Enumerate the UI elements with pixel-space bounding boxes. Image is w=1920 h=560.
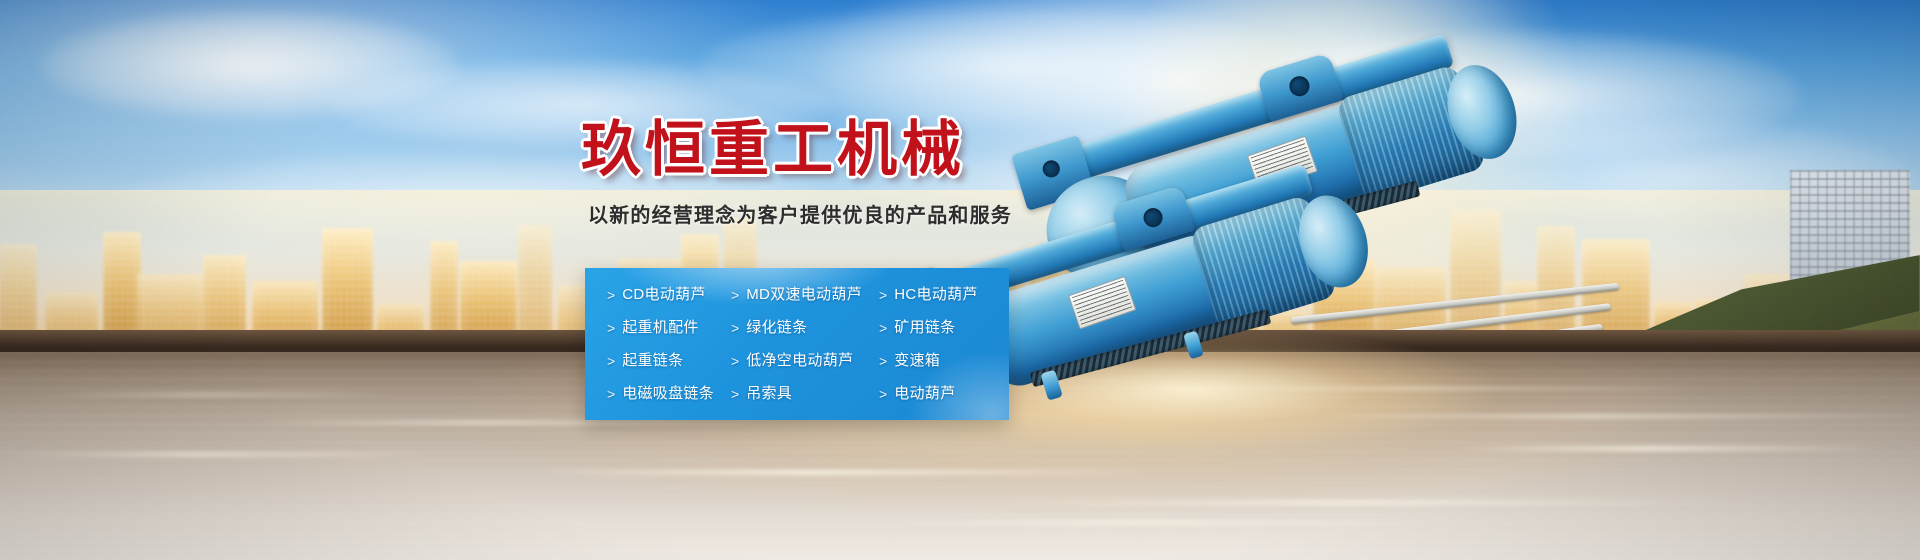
chevron-right-icon: > <box>731 321 739 335</box>
chevron-right-icon: > <box>607 387 615 401</box>
product-link[interactable]: >起重机配件 <box>607 320 731 335</box>
product-link-label: 矿用链条 <box>894 320 955 335</box>
speed-line <box>1320 414 1920 419</box>
product-link-label: 低净空电动葫芦 <box>746 353 853 368</box>
chevron-right-icon: > <box>731 354 739 368</box>
chevron-right-icon: > <box>879 288 887 302</box>
product-links-box: >CD电动葫芦>MD双速电动葫芦>HC电动葫芦>起重机配件>绿化链条>矿用链条>… <box>585 268 1009 420</box>
product-link-label: MD双速电动葫芦 <box>746 287 862 302</box>
banner-tagline: 以新的经营理念为客户提供优良的产品和服务 <box>588 199 1055 228</box>
speed-line <box>880 520 1440 525</box>
chevron-right-icon: > <box>607 354 615 368</box>
building <box>1065 208 1118 350</box>
product-link-label: 电动葫芦 <box>894 386 955 401</box>
product-link[interactable]: >电动葫芦 <box>879 386 1009 401</box>
product-link-label: 绿化链条 <box>746 320 807 335</box>
page-title: 玖恒重工机械 <box>581 118 1055 181</box>
product-links-grid: >CD电动葫芦>MD双速电动葫芦>HC电动葫芦>起重机配件>绿化链条>矿用链条>… <box>585 268 1009 420</box>
speed-line <box>0 452 430 457</box>
product-link-label: CD电动葫芦 <box>622 287 705 302</box>
product-link-label: HC电动葫芦 <box>894 287 977 302</box>
product-link-label: 变速箱 <box>894 353 940 368</box>
product-link[interactable]: >MD双速电动葫芦 <box>731 287 879 302</box>
product-link-label: 电磁吸盘链条 <box>622 386 714 401</box>
promo-banner: 玖恒重工机械 以新的经营理念为客户提供优良的产品和服务 >CD电动葫芦>MD双速… <box>0 0 1920 560</box>
product-link[interactable]: >起重链条 <box>607 353 731 368</box>
speed-line <box>40 392 400 397</box>
product-link[interactable]: >绿化链条 <box>731 320 879 335</box>
speed-line <box>1180 386 1700 391</box>
cloud <box>700 5 1320 125</box>
chevron-right-icon: > <box>731 288 739 302</box>
product-link-label: 吊索具 <box>746 386 792 401</box>
speed-line <box>1460 446 1880 451</box>
chevron-right-icon: > <box>879 387 887 401</box>
product-link[interactable]: >电磁吸盘链条 <box>607 386 731 401</box>
chevron-right-icon: > <box>607 321 615 335</box>
banner-copy: 玖恒重工机械 以新的经营理念为客户提供优良的产品和服务 <box>585 118 1055 228</box>
product-link[interactable]: >HC电动葫芦 <box>879 287 1009 302</box>
product-link[interactable]: >吊索具 <box>731 386 879 401</box>
chevron-right-icon: > <box>879 354 887 368</box>
product-link[interactable]: >矿用链条 <box>879 320 1009 335</box>
chevron-right-icon: > <box>731 387 739 401</box>
product-link[interactable]: >CD电动葫芦 <box>607 287 731 302</box>
chevron-right-icon: > <box>607 288 615 302</box>
speed-line <box>520 470 1160 475</box>
chevron-right-icon: > <box>879 321 887 335</box>
product-link-label: 起重机配件 <box>622 320 699 335</box>
speed-line <box>1000 500 1740 505</box>
product-link[interactable]: >变速箱 <box>879 353 1009 368</box>
product-link[interactable]: >低净空电动葫芦 <box>731 353 879 368</box>
speed-line <box>250 420 770 425</box>
product-link-label: 起重链条 <box>622 353 683 368</box>
